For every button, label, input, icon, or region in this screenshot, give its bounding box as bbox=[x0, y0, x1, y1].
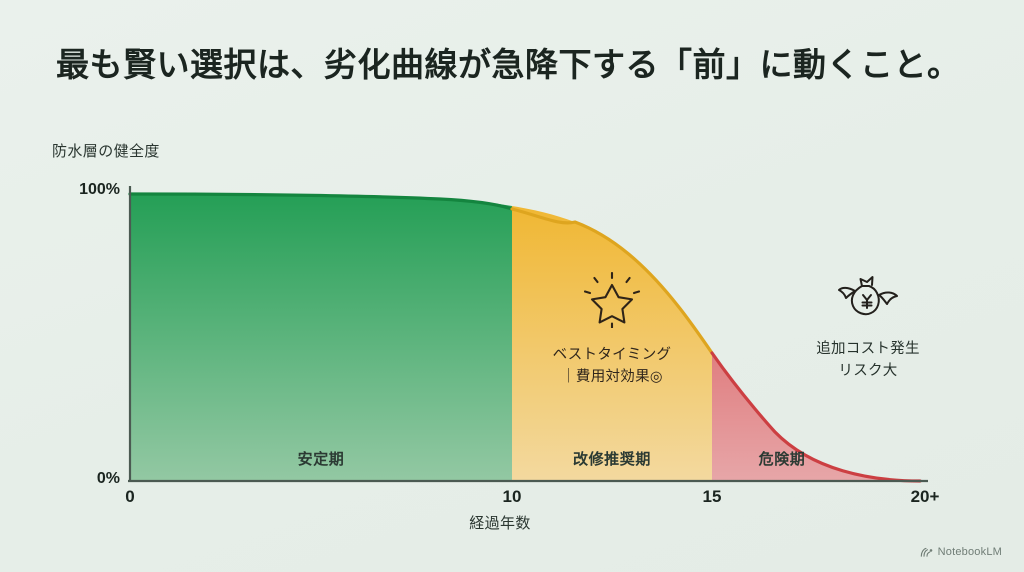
x-tick-20plus: 20+ bbox=[895, 487, 955, 507]
annotation-best-timing: ベストタイミング ｜費用対効果◎ bbox=[512, 272, 712, 389]
x-axis-title-wrap: 経過年数 bbox=[0, 512, 1024, 533]
notebooklm-watermark: NotebookLM bbox=[920, 546, 1002, 558]
annotation-extra-cost-risk: 追加コスト発生 リスク大 bbox=[768, 268, 968, 383]
y-tick-0: 0% bbox=[62, 470, 120, 488]
zone-label-danger: 危険期 bbox=[722, 448, 842, 469]
annotation-extra-cost-risk-line1: 追加コスト発生 bbox=[768, 338, 968, 360]
annotation-best-timing-line1: ベストタイミング bbox=[512, 344, 712, 366]
annotation-best-timing-line2: ｜費用対効果◎ bbox=[512, 366, 712, 388]
zone-stable-area bbox=[130, 180, 512, 481]
degradation-curve-chart: 防水層の健全度 100% 0% 0 10 15 20+ 経過年数 安定期 改修推… bbox=[0, 0, 1024, 572]
x-tick-0: 0 bbox=[100, 487, 160, 507]
x-tick-10: 10 bbox=[482, 487, 542, 507]
slide-canvas: 最も賢い選択は、劣化曲線が急降下する「前」に動くこと。 bbox=[0, 0, 1024, 572]
annotation-extra-cost-risk-line2: リスク大 bbox=[768, 360, 968, 382]
winged-money-bag-icon bbox=[768, 268, 968, 322]
x-tick-15: 15 bbox=[682, 487, 742, 507]
y-tick-100: 100% bbox=[62, 181, 120, 199]
notebooklm-watermark-label: NotebookLM bbox=[938, 546, 1002, 558]
x-axis-title: 経過年数 bbox=[469, 512, 531, 533]
sparkle-star-icon bbox=[512, 272, 712, 328]
zone-label-recommended: 改修推奨期 bbox=[532, 448, 692, 469]
y-axis-title: 防水層の健全度 bbox=[52, 140, 160, 161]
zone-label-stable: 安定期 bbox=[241, 448, 401, 469]
notebooklm-logo-icon bbox=[920, 547, 933, 558]
